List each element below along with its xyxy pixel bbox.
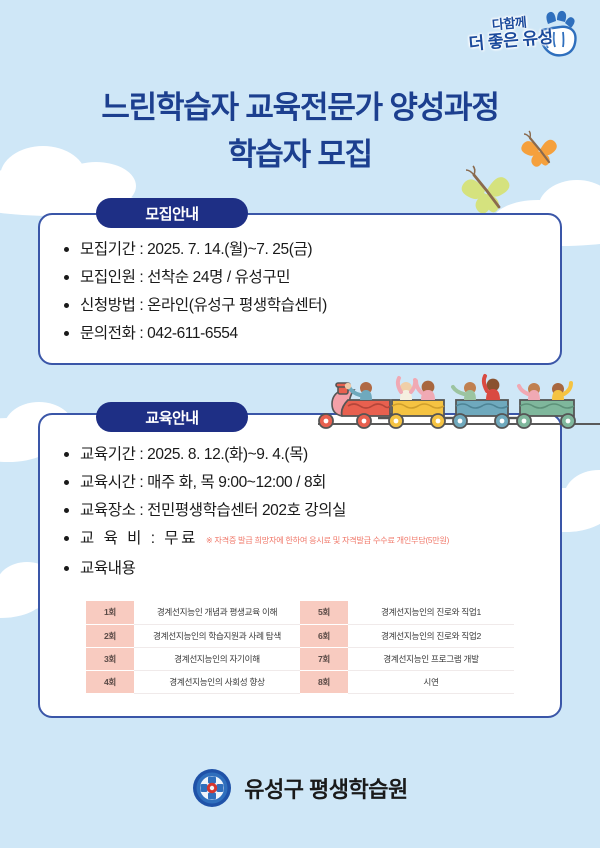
session-number: 6회: [300, 624, 348, 647]
education-section-badge: 교육안내: [96, 402, 248, 432]
session-number: 4회: [86, 670, 134, 693]
table-row: 2회 경계선지능인의 학습지원과 사례 탐색 6회 경계선지능인의 진로와 직업…: [86, 624, 514, 647]
session-number: 2회: [86, 624, 134, 647]
session-number: 7회: [300, 647, 348, 670]
session-topic: 경계선지능인의 사회성 향상: [134, 670, 300, 693]
footer-organization-name: 유성구 평생학습원: [244, 772, 408, 804]
session-topic: 경계선지능인 개념과 평생교육 이해: [134, 601, 300, 624]
session-topic: 경계선지능인 프로그램 개발: [348, 647, 514, 670]
yuseong-gu-emblem-icon: [192, 768, 232, 808]
session-number: 3회: [86, 647, 134, 670]
session-topic: 경계선지능인의 학습지원과 사례 탐색: [134, 624, 300, 647]
session-number: 8회: [300, 670, 348, 693]
session-topic: 경계선지능인의 자기이해: [134, 647, 300, 670]
session-topic: 경계선지능인의 진로와 직업1: [348, 601, 514, 624]
session-number: 5회: [300, 601, 348, 624]
page-title: 느린학습자 교육전문가 양성과정 학습자 모집: [0, 84, 600, 178]
recruit-bullet-list: 모집기간 : 2025. 7. 14.(월)~7. 25(금) 모집인원 : 선…: [62, 236, 532, 348]
list-item: 문의전화 : 042-611-6554: [62, 320, 532, 348]
education-bullet-list: 교육기간 : 2025. 8. 12.(화)~9. 4.(목) 교육시간 : 매…: [62, 441, 532, 583]
table-row: 1회 경계선지능인 개념과 평생교육 이해 5회 경계선지능인의 진로와 직업1: [86, 601, 514, 624]
slogan-logo: 다함께 더 좋은 유성: [460, 6, 586, 78]
list-item: 교육기간 : 2025. 8. 12.(화)~9. 4.(목): [62, 441, 532, 469]
session-topic: 경계선지능인의 진로와 직업2: [348, 624, 514, 647]
title-line-2: 학습자 모집: [0, 131, 600, 178]
list-item-fee: 교 육 비 : 무료※ 자격증 발급 희망자에 한하여 응시료 및 자격발급 수…: [62, 525, 532, 555]
poster-canvas: 다함께 더 좋은 유성: [0, 0, 600, 848]
fee-note: ※ 자격증 발급 희망자에 한하여 응시료 및 자격발급 수수료 개인부담(5만…: [206, 536, 449, 545]
list-item: 모집인원 : 선착순 24명 / 유성구민: [62, 264, 532, 292]
footer: 유성구 평생학습원: [0, 768, 600, 808]
list-item: 교육장소 : 전민평생학습센터 202호 강의실: [62, 497, 532, 525]
list-item: 신청방법 : 온라인(유성구 평생학습센터): [62, 292, 532, 320]
session-topic: 시연: [348, 670, 514, 693]
table-row: 3회 경계선지능인의 자기이해 7회 경계선지능인 프로그램 개발: [86, 647, 514, 670]
fee-label: 교 육 비 : 무료: [80, 530, 198, 547]
curriculum-table: 1회 경계선지능인 개념과 평생교육 이해 5회 경계선지능인의 진로와 직업1…: [86, 601, 514, 694]
title-line-1: 느린학습자 교육전문가 양성과정: [0, 84, 600, 131]
table-row: 4회 경계선지능인의 사회성 향상 8회 시연: [86, 670, 514, 693]
list-item: 교육시간 : 매주 화, 목 9:00~12:00 / 8회: [62, 469, 532, 497]
list-item-content: 교육내용: [62, 555, 532, 583]
session-number: 1회: [86, 601, 134, 624]
list-item: 모집기간 : 2025. 7. 14.(월)~7. 25(금): [62, 236, 532, 264]
train-illustration: [318, 368, 600, 432]
recruit-section-badge: 모집안내: [96, 198, 248, 228]
